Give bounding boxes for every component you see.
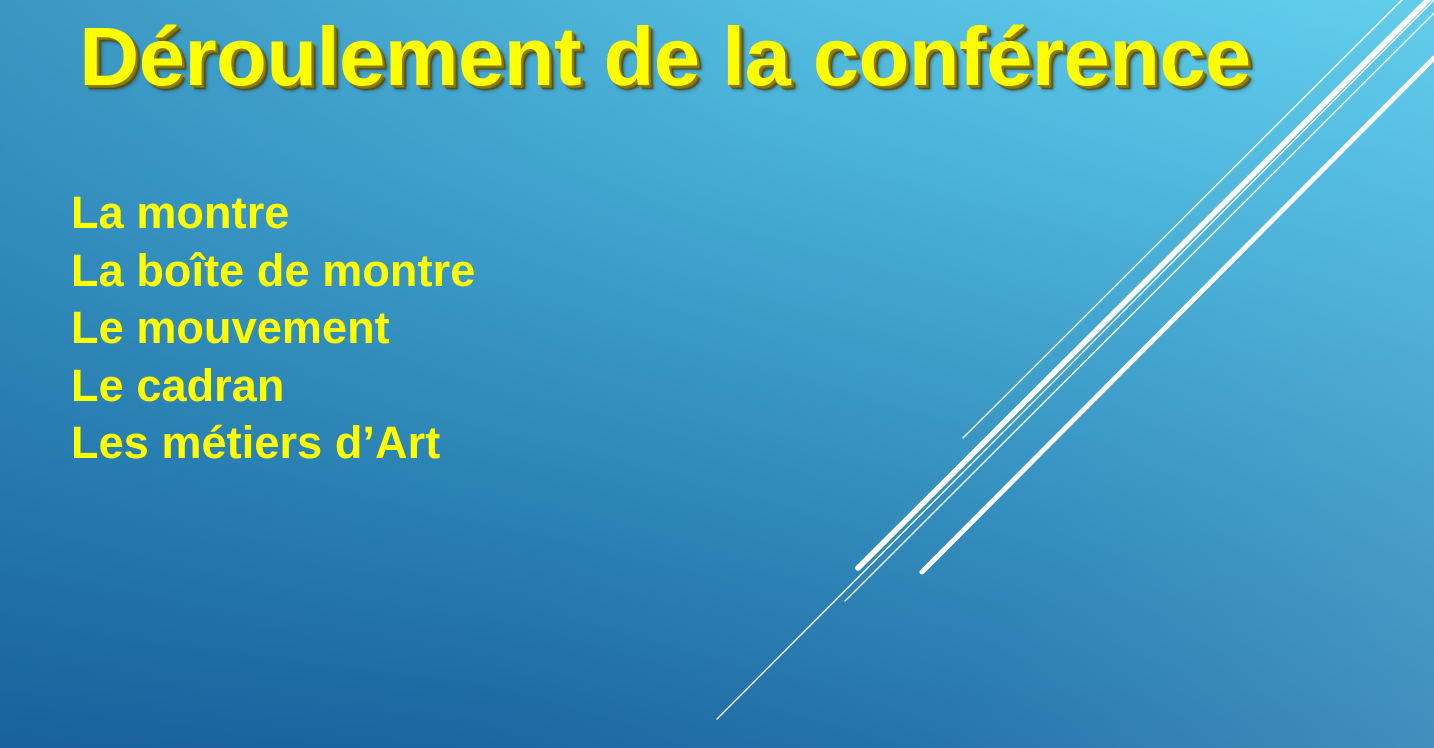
list-item: Le mouvement <box>71 299 475 357</box>
list-item: Le cadran <box>71 357 475 415</box>
diagonal-streak-1 <box>717 0 1434 719</box>
presentation-slide: Déroulement de la conférence La montre L… <box>0 0 1434 748</box>
slide-title: Déroulement de la conférence <box>0 14 1330 100</box>
diagonal-streak-5 <box>922 58 1434 572</box>
list-item: La montre <box>71 184 475 242</box>
list-item: Les métiers d’Art <box>71 414 475 472</box>
list-item: La boîte de montre <box>71 242 475 300</box>
agenda-list: La montre La boîte de montre Le mouvemen… <box>71 184 475 472</box>
